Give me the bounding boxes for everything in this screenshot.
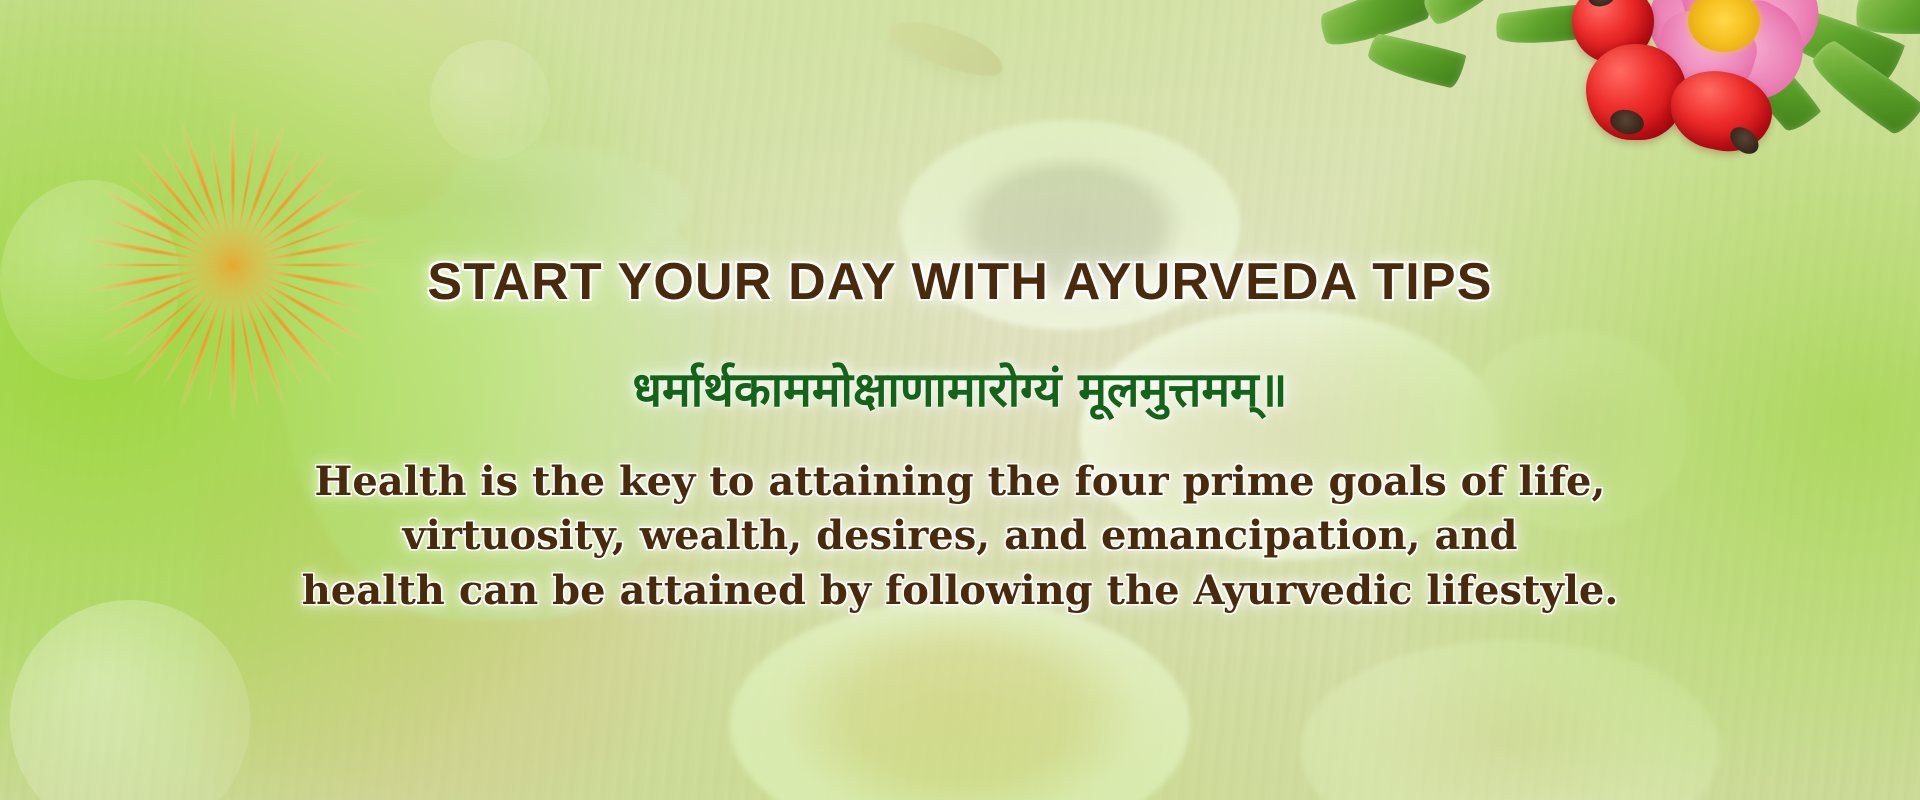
subtitle-line-1: Health is the key to attaining the four … <box>302 455 1619 509</box>
subtitle-line-3: health can be attained by following the … <box>302 564 1619 618</box>
ayurveda-tips-banner: START YOUR DAY WITH AYURVEDA TIPS धर्मार… <box>0 0 1920 800</box>
sanskrit-verse: धर्मार्थकाममोक्षाणामारोग्यं मूलमुत्तमम्॥ <box>633 356 1288 421</box>
subtitle-block: Health is the key to attaining the four … <box>302 455 1619 618</box>
page-title: START YOUR DAY WITH AYURVEDA TIPS <box>427 252 1492 312</box>
banner-text-content: START YOUR DAY WITH AYURVEDA TIPS धर्मार… <box>0 0 1920 800</box>
subtitle-line-2: virtuosity, wealth, desires, and emancip… <box>302 509 1619 563</box>
